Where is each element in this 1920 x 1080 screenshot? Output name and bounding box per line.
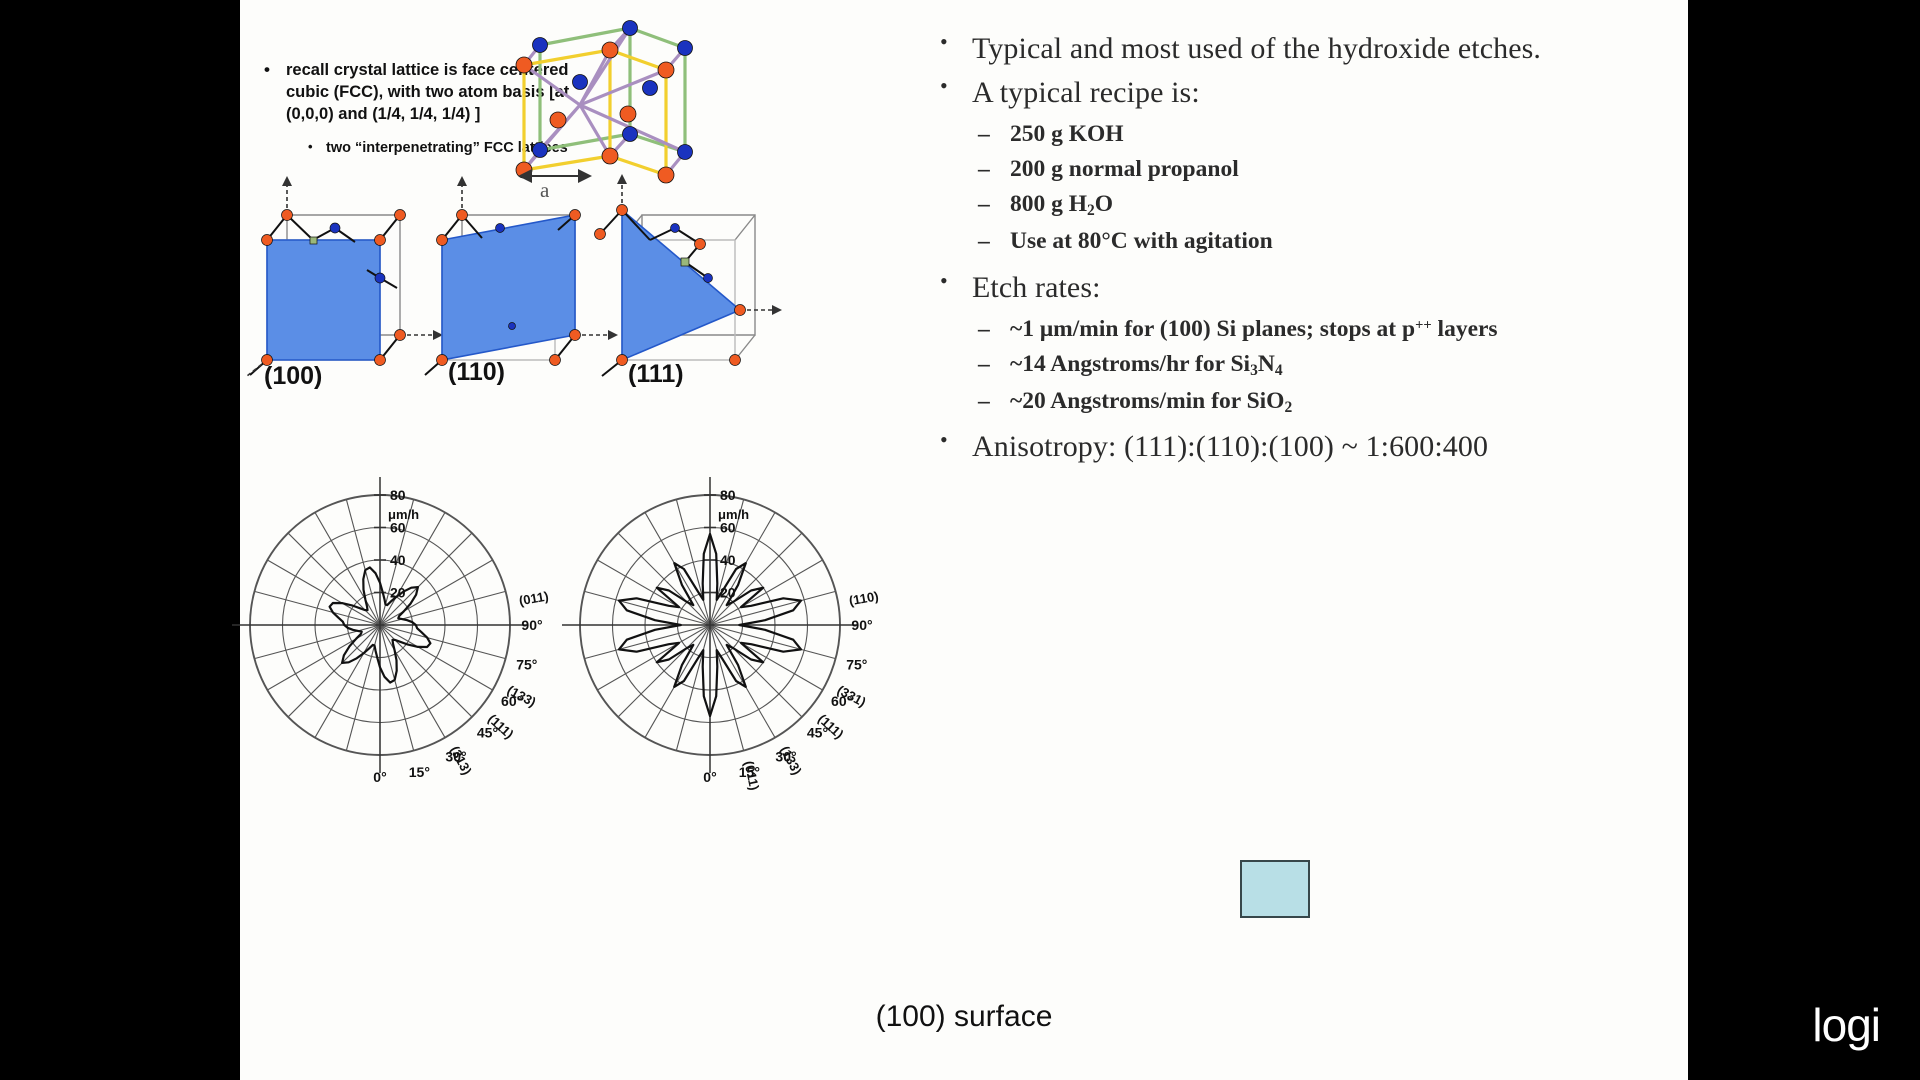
svg-text:15°: 15° xyxy=(409,764,430,780)
svg-text:80: 80 xyxy=(720,487,736,503)
bullet-typical-use: Typical and most used of the hydroxide e… xyxy=(930,30,1630,68)
svg-text:80: 80 xyxy=(390,487,406,503)
figure-caption: (100) surface xyxy=(240,1000,1688,1034)
plane-figure-111 xyxy=(580,170,800,380)
svg-text:μm/h: μm/h xyxy=(718,507,749,522)
svg-text:μm/h: μm/h xyxy=(388,507,419,522)
screen: recall crystal lattice is face centered … xyxy=(0,0,1920,1080)
svg-text:90°: 90° xyxy=(851,617,872,633)
bullet-koh: 250 g KOH xyxy=(930,118,1630,150)
svg-text:(110): (110) xyxy=(848,588,880,608)
svg-text:75°: 75° xyxy=(846,656,867,672)
svg-text:75°: 75° xyxy=(516,656,537,672)
plane-label-110: (110) xyxy=(448,358,505,387)
svg-text:40: 40 xyxy=(720,552,736,568)
bullet-anisotropy: Anisotropy: (111):(110):(100) ~ 1:600:40… xyxy=(930,428,1630,466)
slide-canvas: recall crystal lattice is face centered … xyxy=(240,0,1688,1080)
svg-text:0°: 0° xyxy=(373,769,386,785)
bullet-temperature: Use at 80°C with agitation xyxy=(930,225,1630,257)
bullet-recipe-heading: A typical recipe is: xyxy=(930,74,1630,112)
teal-highlight-square[interactable] xyxy=(1240,860,1310,918)
bullet-rate-sio2: ~20 Angstroms/min for SiO2 xyxy=(930,385,1630,418)
svg-text:0°: 0° xyxy=(703,769,716,785)
plane-label-100: (100) xyxy=(264,362,322,391)
svg-text:90°: 90° xyxy=(521,617,542,633)
bullet-rate-si100: ~1 μm/min for (100) Si planes; stops at … xyxy=(930,313,1630,345)
logi-watermark: logi xyxy=(1812,998,1880,1052)
plane-label-111: (111) xyxy=(628,360,684,389)
svg-text:(011): (011) xyxy=(518,588,550,608)
bullet-rate-sin: ~14 Angstroms/hr for Si3N4 xyxy=(930,348,1630,381)
bullet-propanol: 200 g normal propanol xyxy=(930,153,1630,185)
svg-text:40: 40 xyxy=(390,552,406,568)
bullet-water: 800 g H2O xyxy=(930,188,1630,221)
polar-chart-left: 20406080μm/h0°15°30°45°60°75°90°(011)(13… xyxy=(230,440,570,800)
bullet-etch-rates-heading: Etch rates: xyxy=(930,269,1630,307)
polar-chart-right: 20406080μm/h0°15°30°45°60°75°90°(110)(33… xyxy=(560,440,900,800)
etch-bullet-list: Typical and most used of the hydroxide e… xyxy=(930,30,1630,472)
